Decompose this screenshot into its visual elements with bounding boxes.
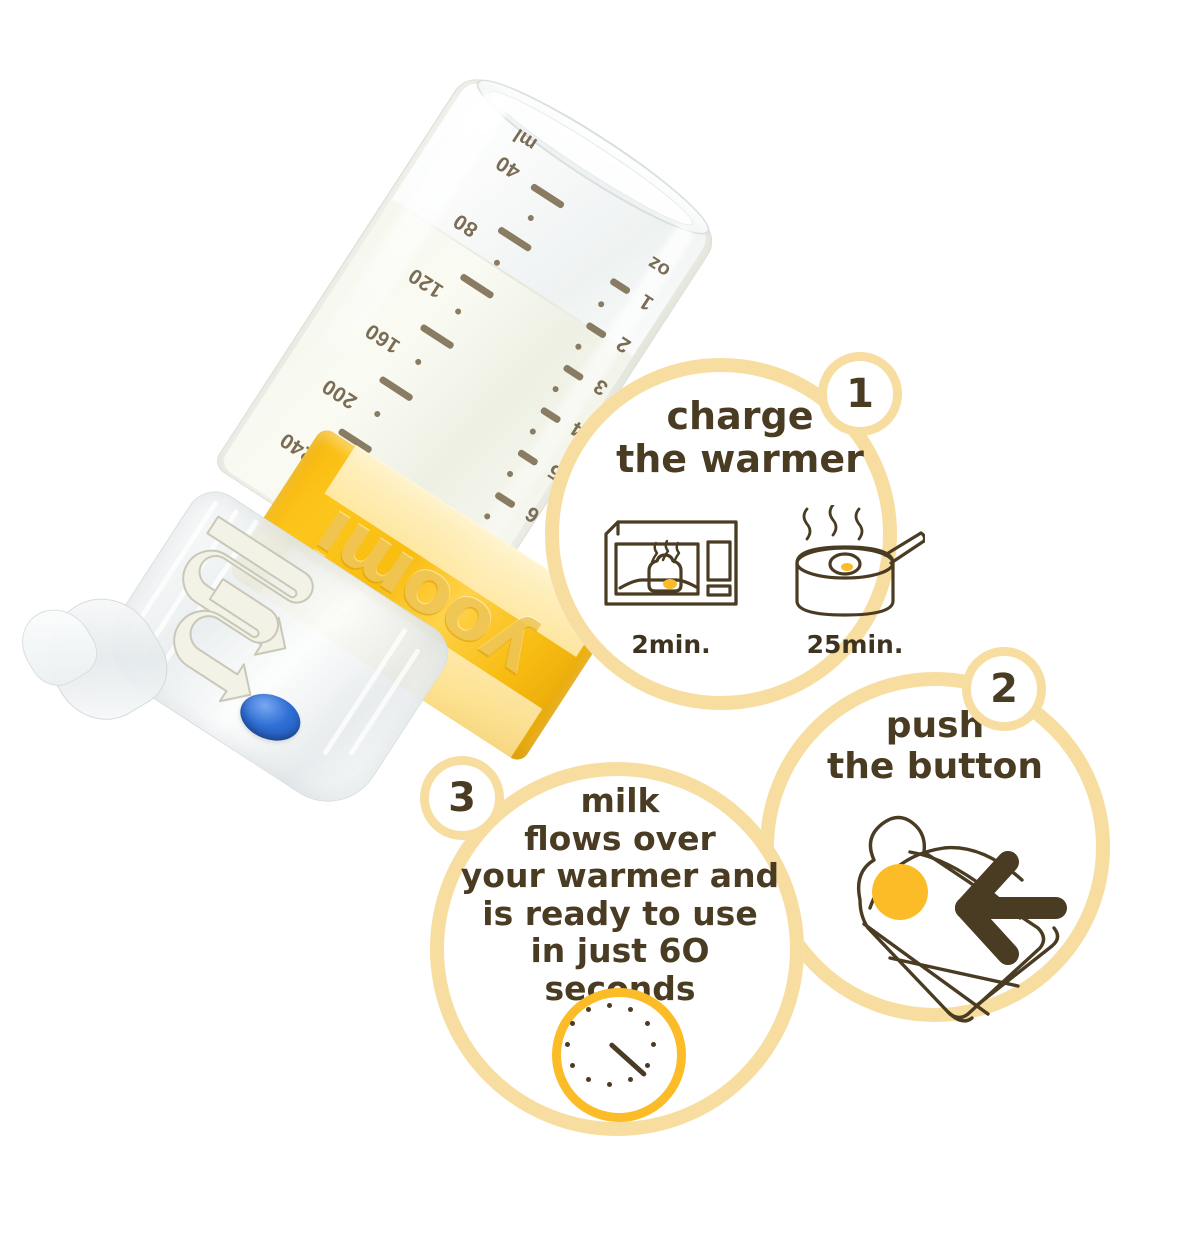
step-3-title: milk flows over your warmer and is ready…	[452, 782, 788, 1008]
clock-hand	[608, 1042, 647, 1078]
step-1-title-line: the warmer	[595, 438, 885, 481]
step-2-title-line: the button	[790, 746, 1080, 787]
microwave-time-label: 2min.	[600, 630, 742, 659]
step-1-badge: 1	[818, 352, 902, 436]
infographic-canvas: ml oz 40 80 120 160 200 240	[0, 0, 1187, 1236]
saucepan-time-label: 25min.	[785, 630, 925, 659]
step-3-title-line: flows over	[452, 820, 788, 858]
step-2-title: push the button	[790, 705, 1080, 787]
step-3-badge: 3	[420, 756, 504, 840]
step-3-title-line: your warmer and	[452, 857, 788, 895]
microwave-icon	[600, 512, 742, 625]
step-3-title-line: is ready to use	[452, 895, 788, 933]
saucepan-icon	[785, 505, 925, 628]
step-2-badge: 2	[962, 647, 1046, 731]
bottle-push-button-icon	[838, 800, 1078, 1035]
clock-icon	[552, 988, 686, 1122]
